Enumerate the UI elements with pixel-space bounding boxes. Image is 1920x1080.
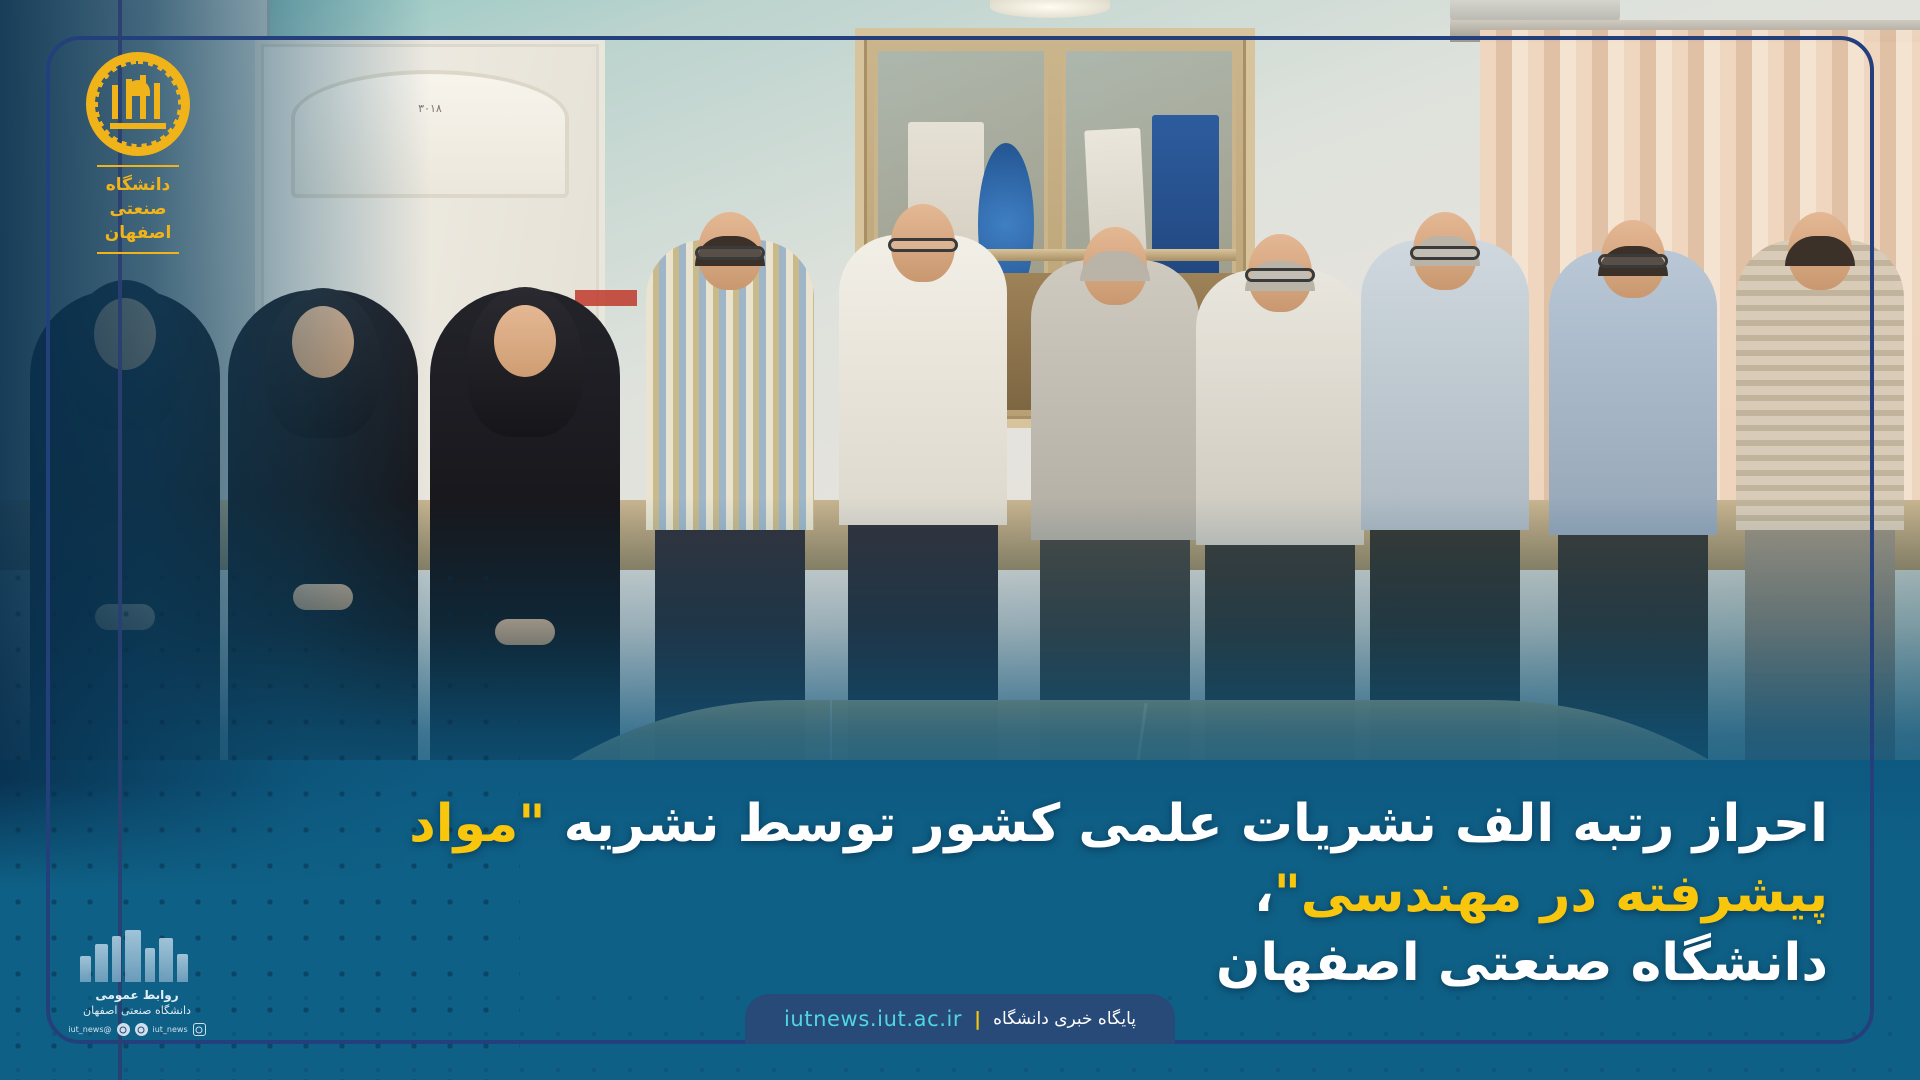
instagram-handle: iut_news xyxy=(153,1025,188,1034)
iut-crest-icon xyxy=(86,52,190,156)
university-logo-line-2: صنعتی xyxy=(72,197,204,221)
url-bar-label: پایگاه خبری دانشگاه xyxy=(993,1009,1136,1029)
news-site-url-bar[interactable]: پایگاه خبری دانشگاه | iutnews.iut.ac.ir xyxy=(745,994,1175,1044)
news-banner: ۳۰۱۸ xyxy=(0,0,1920,1080)
headline: احراز رتبه الف نشریات علمی کشور توسط نشر… xyxy=(300,790,1828,999)
university-logo-line-1: دانشگاه xyxy=(72,173,204,197)
pr-title: روابط عمومی xyxy=(62,988,212,1002)
headline-line-2: دانشگاه صنعتی اصفهان xyxy=(300,929,1828,999)
logo-divider-bottom xyxy=(97,252,179,254)
telegram-icon[interactable] xyxy=(135,1023,148,1036)
logo-divider-top xyxy=(97,165,179,167)
university-logo: دانشگاه صنعتی اصفهان xyxy=(72,52,204,254)
public-relations-logo: روابط عمومی دانشگاه صنعتی اصفهان iut_new… xyxy=(62,930,212,1036)
headline-part-before: احراز رتبه الف نشریات علمی کشور توسط نشر… xyxy=(545,794,1828,854)
skyline-icon xyxy=(78,930,196,982)
instagram-icon[interactable] xyxy=(193,1023,206,1036)
url-bar-link[interactable]: iutnews.iut.ac.ir xyxy=(784,1007,962,1031)
telegram-handle: @iut_news xyxy=(68,1025,111,1034)
telegram-icon-2[interactable] xyxy=(117,1023,130,1036)
headline-line-1: احراز رتبه الف نشریات علمی کشور توسط نشر… xyxy=(300,790,1828,929)
headline-part-after: ، xyxy=(1254,864,1274,924)
url-bar-separator: | xyxy=(974,1008,981,1030)
pr-social-row: iut_news @iut_news xyxy=(62,1023,212,1036)
university-logo-line-3: اصفهان xyxy=(72,221,204,245)
pr-subtitle: دانشگاه صنعتی اصفهان xyxy=(62,1004,212,1017)
